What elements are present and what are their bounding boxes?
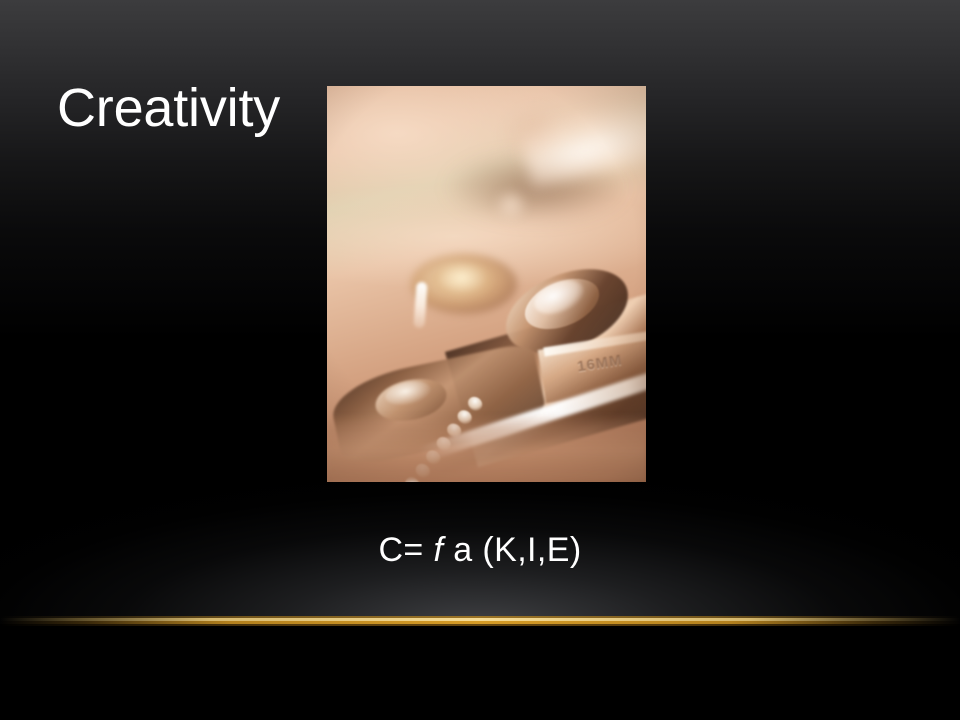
divider-band-bottom bbox=[0, 624, 960, 626]
formula-prefix: C= bbox=[378, 531, 423, 569]
slide-image: 16MM bbox=[327, 86, 646, 482]
gold-divider-line bbox=[0, 613, 960, 627]
slide-title: Creativity bbox=[57, 80, 280, 137]
formula-function-symbol: f bbox=[434, 531, 444, 569]
creativity-formula: C= f a (K,I,E) bbox=[0, 531, 960, 570]
formula-suffix: a (K,I,E) bbox=[453, 531, 581, 569]
photo-vignette bbox=[327, 86, 646, 482]
presentation-slide: Creativity 16MM C= f a (K,I,E) bbox=[0, 0, 960, 720]
